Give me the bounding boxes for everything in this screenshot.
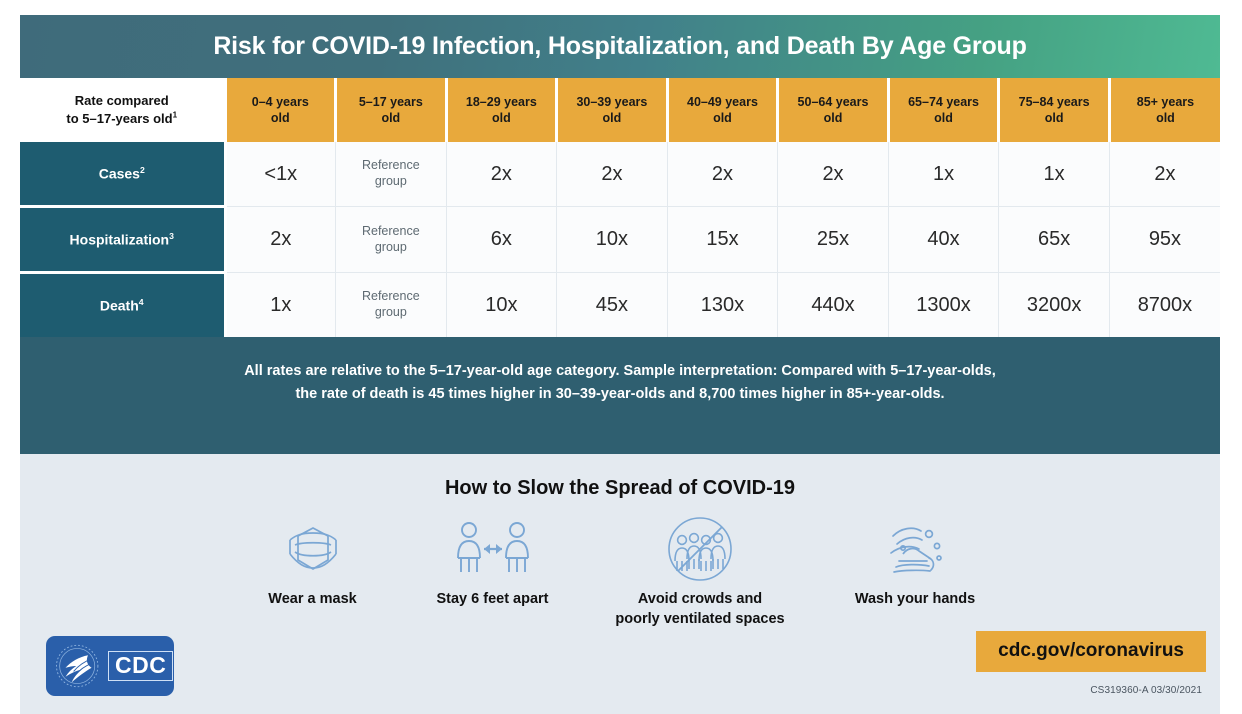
table-row: Hospitalization3 2x Reference group 6x 1… <box>20 207 1220 273</box>
note-line2: the rate of death is 45 times higher in … <box>295 386 944 402</box>
ref-line2: group <box>375 174 407 188</box>
col-head-line1: 65–74 years <box>908 95 979 109</box>
ref-line1: Reference <box>362 158 420 172</box>
col-head-line1: 40–49 years <box>687 95 758 109</box>
column-header-5-17: 5–17 years old <box>336 78 447 142</box>
infographic-poster: Risk for COVID-19 Infection, Hospitaliza… <box>20 15 1220 687</box>
cell-death-40-49: 130x <box>667 273 778 338</box>
ref-line1: Reference <box>362 224 420 238</box>
social-distance-icon <box>400 518 585 580</box>
row-label-text: Cases <box>99 166 140 182</box>
col-head-line1: 75–84 years <box>1019 95 1090 109</box>
cell-hosp-65-74: 40x <box>888 207 999 273</box>
col-head-line1: 18–29 years <box>466 95 537 109</box>
col-head-line2: old <box>934 111 953 125</box>
cell-cases-65-74: 1x <box>888 142 999 207</box>
page-title: Risk for COVID-19 Infection, Hospitaliza… <box>213 32 1026 61</box>
ref-line1: Reference <box>362 289 420 303</box>
cell-death-50-64: 440x <box>778 273 889 338</box>
col-head-line2: old <box>492 111 511 125</box>
row-label-footnote: 4 <box>139 297 144 307</box>
table-row: Death4 1x Reference group 10x 45x 130x 4… <box>20 273 1220 338</box>
wash-hands-icon <box>815 518 1015 580</box>
prevention-tips-list: Wear a mask <box>20 518 1220 629</box>
tip-wash-your-hands: Wash your hands <box>815 518 1015 610</box>
row-label-death: Death4 <box>20 273 225 338</box>
cell-hosp-30-39: 10x <box>557 207 668 273</box>
cell-cases-75-84: 1x <box>999 142 1110 207</box>
col-head-line1: 50–64 years <box>798 95 869 109</box>
col-head-line2: old <box>1156 111 1175 125</box>
slow-the-spread-title: How to Slow the Spread of COVID-19 <box>20 454 1220 500</box>
cell-death-85-plus: 8700x <box>1109 273 1220 338</box>
footer: CDC cdc.gov/coronavirus CS319360-A 03/30… <box>20 622 1220 714</box>
tip-label: Wear a mask <box>225 590 400 610</box>
cell-death-65-74: 1300x <box>888 273 999 338</box>
tip-avoid-crowds: Avoid crowds and poorly ventilated space… <box>585 518 815 629</box>
hhs-eagle-seal-icon <box>52 640 106 692</box>
ref-line2: group <box>375 240 407 254</box>
cell-hosp-75-84: 65x <box>999 207 1110 273</box>
tip-label-line1: Avoid crowds and <box>638 591 762 607</box>
title-banner: Risk for COVID-19 Infection, Hospitaliza… <box>20 15 1220 78</box>
row-label-footnote: 3 <box>169 231 174 241</box>
col-head-line1: 85+ years <box>1137 95 1194 109</box>
col-head-line2: old <box>381 111 400 125</box>
row-label-text: Death <box>100 298 139 314</box>
cell-cases-18-29: 2x <box>446 142 557 207</box>
corner-header-line1: Rate compared <box>75 93 169 108</box>
tip-label: Wash your hands <box>815 590 1015 610</box>
col-head-line1: 5–17 years <box>359 95 423 109</box>
cell-cases-85-plus: 2x <box>1109 142 1220 207</box>
cell-hosp-0-4: 2x <box>225 207 336 273</box>
col-head-line2: old <box>1045 111 1064 125</box>
col-head-line2: old <box>271 111 290 125</box>
cell-hosp-50-64: 25x <box>778 207 889 273</box>
row-label-footnote: 2 <box>140 165 145 175</box>
cell-hosp-5-17: Reference group <box>336 207 447 273</box>
risk-table: Rate compared to 5–17-years old1 0–4 yea… <box>20 78 1220 337</box>
column-header-30-39: 30–39 years old <box>557 78 668 142</box>
col-head-line2: old <box>713 111 732 125</box>
cell-hosp-85-plus: 95x <box>1109 207 1220 273</box>
cell-cases-40-49: 2x <box>667 142 778 207</box>
column-header-18-29: 18–29 years old <box>446 78 557 142</box>
cell-hosp-18-29: 6x <box>446 207 557 273</box>
cell-death-75-84: 3200x <box>999 273 1110 338</box>
cdc-url-button[interactable]: cdc.gov/coronavirus <box>976 631 1206 672</box>
cell-hosp-40-49: 15x <box>667 207 778 273</box>
cell-death-18-29: 10x <box>446 273 557 338</box>
cell-cases-5-17: Reference group <box>336 142 447 207</box>
row-label-text: Hospitalization <box>70 232 170 248</box>
slow-the-spread-section: How to Slow the Spread of COVID-19 Wear … <box>20 454 1220 714</box>
cdc-logo[interactable]: CDC <box>46 636 174 696</box>
col-head-line1: 0–4 years <box>252 95 309 109</box>
row-label-cases: Cases2 <box>20 142 225 207</box>
ref-line2: group <box>375 305 407 319</box>
column-header-0-4: 0–4 years old <box>225 78 336 142</box>
table-header-row: Rate compared to 5–17-years old1 0–4 yea… <box>20 78 1220 142</box>
column-header-75-84: 75–84 years old <box>999 78 1110 142</box>
face-mask-icon <box>225 518 400 580</box>
cell-cases-50-64: 2x <box>778 142 889 207</box>
cell-death-5-17: Reference group <box>336 273 447 338</box>
tip-label: Stay 6 feet apart <box>400 590 585 610</box>
note-line1: All rates are relative to the 5–17-year-… <box>244 363 996 379</box>
column-header-85-plus: 85+ years old <box>1109 78 1220 142</box>
corner-header-footnote: 1 <box>173 111 177 120</box>
column-header-65-74: 65–74 years old <box>888 78 999 142</box>
cell-death-0-4: 1x <box>225 273 336 338</box>
column-header-50-64: 50–64 years old <box>778 78 889 142</box>
col-head-line2: old <box>603 111 622 125</box>
row-label-hospitalization: Hospitalization3 <box>20 207 225 273</box>
document-id: CS319360-A 03/30/2021 <box>1090 685 1202 696</box>
tip-stay-6-feet-apart: Stay 6 feet apart <box>400 518 585 610</box>
cell-cases-0-4: <1x <box>225 142 336 207</box>
table-row: Cases2 <1x Reference group 2x 2x 2x 2x 1… <box>20 142 1220 207</box>
cdc-logo-text: CDC <box>108 651 173 680</box>
avoid-crowds-icon <box>585 518 815 580</box>
column-header-40-49: 40–49 years old <box>667 78 778 142</box>
interpretation-note: All rates are relative to the 5–17-year-… <box>20 337 1220 454</box>
corner-header-line2: to 5–17-years old <box>66 111 172 126</box>
cell-death-30-39: 45x <box>557 273 668 338</box>
col-head-line2: old <box>824 111 843 125</box>
tip-wear-a-mask: Wear a mask <box>225 518 400 610</box>
risk-table-container: Rate compared to 5–17-years old1 0–4 yea… <box>20 78 1220 337</box>
cell-cases-30-39: 2x <box>557 142 668 207</box>
col-head-line1: 30–39 years <box>576 95 647 109</box>
table-corner-header: Rate compared to 5–17-years old1 <box>20 78 225 142</box>
